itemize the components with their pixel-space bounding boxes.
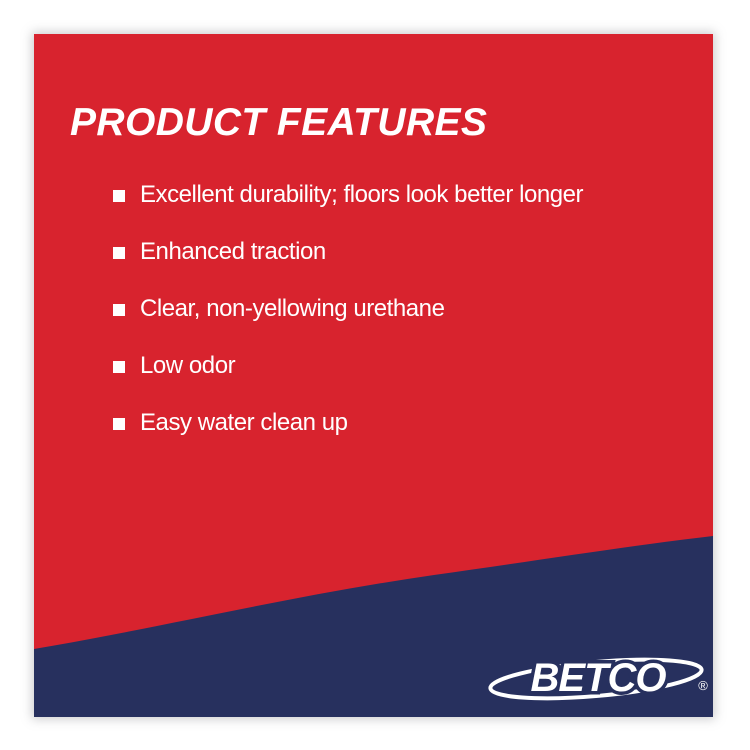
feature-label: Enhanced traction (140, 239, 326, 264)
square-bullet-icon (113, 418, 125, 430)
square-bullet-icon (113, 190, 125, 202)
page-title: PRODUCT FEATURES (70, 103, 487, 142)
list-item: Enhanced traction (113, 223, 583, 280)
feature-list: Excellent durability; floors look better… (113, 166, 583, 451)
list-item: Low odor (113, 337, 583, 394)
feature-label: Excellent durability; floors look better… (140, 182, 583, 207)
square-bullet-icon (113, 247, 125, 259)
feature-label: Clear, non-yellowing urethane (140, 296, 444, 321)
feature-label: Low odor (140, 353, 235, 378)
registered-trademark-icon: ® (698, 678, 708, 693)
betco-logo: BETCO ® (484, 646, 713, 704)
screenshot-canvas: PRODUCT FEATURES Excellent durability; f… (0, 0, 750, 750)
betco-logo-mark: BETCO ® (484, 646, 713, 704)
product-features-card: PRODUCT FEATURES Excellent durability; f… (34, 34, 713, 717)
square-bullet-icon (113, 361, 125, 373)
square-bullet-icon (113, 304, 125, 316)
feature-label: Easy water clean up (140, 410, 348, 435)
list-item: Clear, non-yellowing urethane (113, 280, 583, 337)
betco-wordmark: BETCO (531, 656, 667, 700)
list-item: Easy water clean up (113, 394, 583, 451)
list-item: Excellent durability; floors look better… (113, 166, 583, 223)
